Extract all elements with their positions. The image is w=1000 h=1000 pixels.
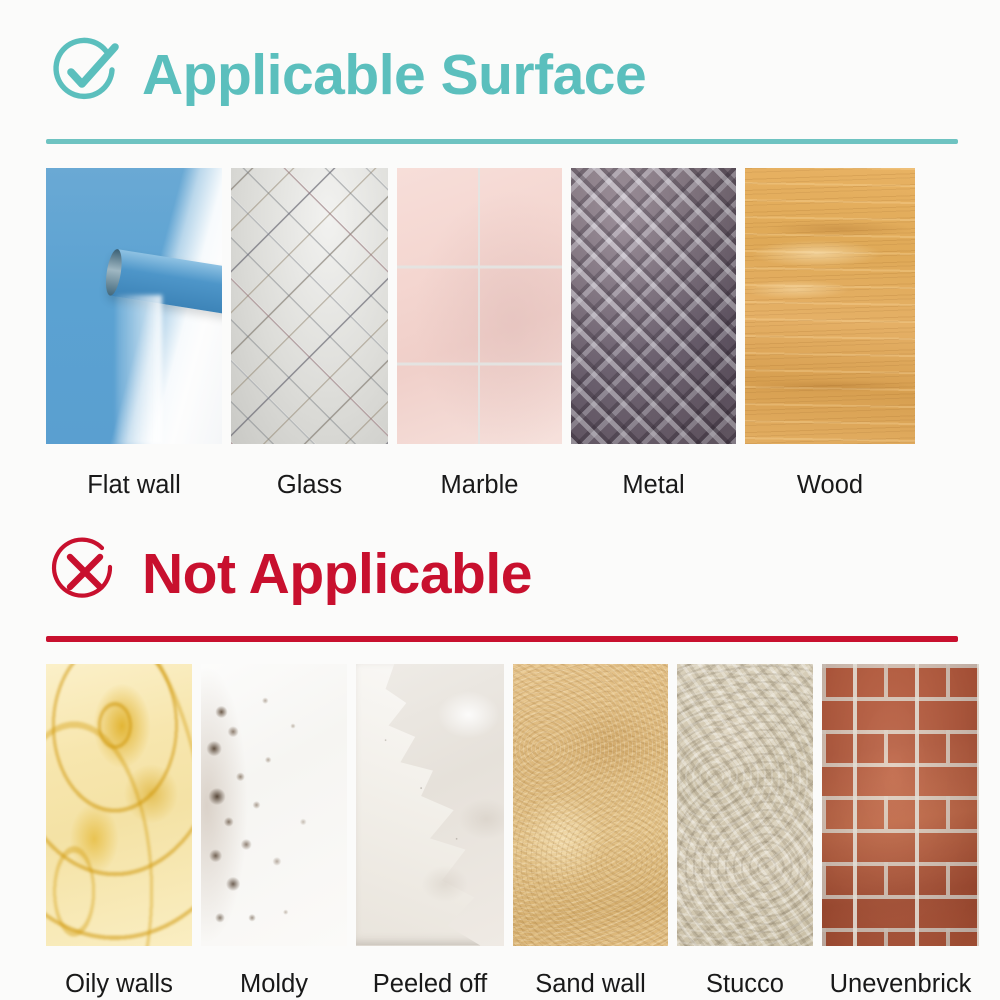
check-circle-icon <box>46 34 124 117</box>
x-circle-icon <box>46 533 124 616</box>
surface-card-marble[interactable]: Marble <box>397 168 562 499</box>
surface-card-flat-wall[interactable]: Flat wall <box>46 168 222 499</box>
surface-label-flat-wall: Flat wall <box>46 444 222 499</box>
flat-wall-image <box>46 168 222 444</box>
marble-image <box>397 168 562 444</box>
surface-card-wood[interactable]: Wood <box>745 168 915 499</box>
surface-card-moldy[interactable]: Moldy <box>201 664 347 998</box>
surface-label-wood: Wood <box>745 444 915 499</box>
surface-label-moldy: Moldy <box>201 946 347 998</box>
surface-label-glass: Glass <box>231 444 388 499</box>
peeled-off-image <box>356 664 504 946</box>
applicable-title: Applicable Surface <box>142 47 646 104</box>
not-applicable-tile-grid: Oily walls Moldy Peeled off Sand wall St… <box>0 642 1000 998</box>
surface-label-oily-walls: Oily walls <box>46 946 192 998</box>
glass-image <box>231 168 388 444</box>
applicable-header: Applicable Surface <box>0 34 1000 117</box>
wood-image <box>745 168 915 444</box>
surface-card-glass[interactable]: Glass <box>231 168 388 499</box>
surface-card-sand-wall[interactable]: Sand wall <box>513 664 668 998</box>
not-applicable-title: Not Applicable <box>142 546 532 603</box>
not-applicable-divider-wrap <box>0 616 1000 642</box>
section-applicable: Applicable Surface Flat wall Glass Marbl… <box>0 0 1000 499</box>
surface-card-peeled-off[interactable]: Peeled off <box>356 664 504 998</box>
surface-card-unevenbrick[interactable]: Unevenbrick <box>822 664 979 998</box>
paint-edge-fade <box>116 295 162 444</box>
surface-card-metal[interactable]: Metal <box>571 168 736 499</box>
surface-card-oily-walls[interactable]: Oily walls <box>46 664 192 998</box>
metal-image <box>571 168 736 444</box>
surface-label-sand-wall: Sand wall <box>513 946 668 998</box>
applicable-tile-grid: Flat wall Glass Marble Metal Wood <box>0 144 1000 499</box>
surface-label-unevenbrick: Unevenbrick <box>822 946 979 998</box>
surface-label-marble: Marble <box>397 444 562 499</box>
not-applicable-header: Not Applicable <box>0 533 1000 616</box>
applicable-divider-wrap <box>0 117 1000 144</box>
moldy-image <box>201 664 347 946</box>
section-not-applicable: Not Applicable Oily walls Moldy Peeled o… <box>0 499 1000 998</box>
sand-wall-image <box>513 664 668 946</box>
applicable-surface-infographic: Applicable Surface Flat wall Glass Marbl… <box>0 0 1000 1000</box>
unevenbrick-image <box>822 664 979 946</box>
surface-label-metal: Metal <box>571 444 736 499</box>
surface-label-peeled-off: Peeled off <box>356 946 504 998</box>
surface-card-stucco[interactable]: Stucco <box>677 664 813 998</box>
oily-walls-image <box>46 664 192 946</box>
surface-label-stucco: Stucco <box>677 946 813 998</box>
stucco-image <box>677 664 813 946</box>
